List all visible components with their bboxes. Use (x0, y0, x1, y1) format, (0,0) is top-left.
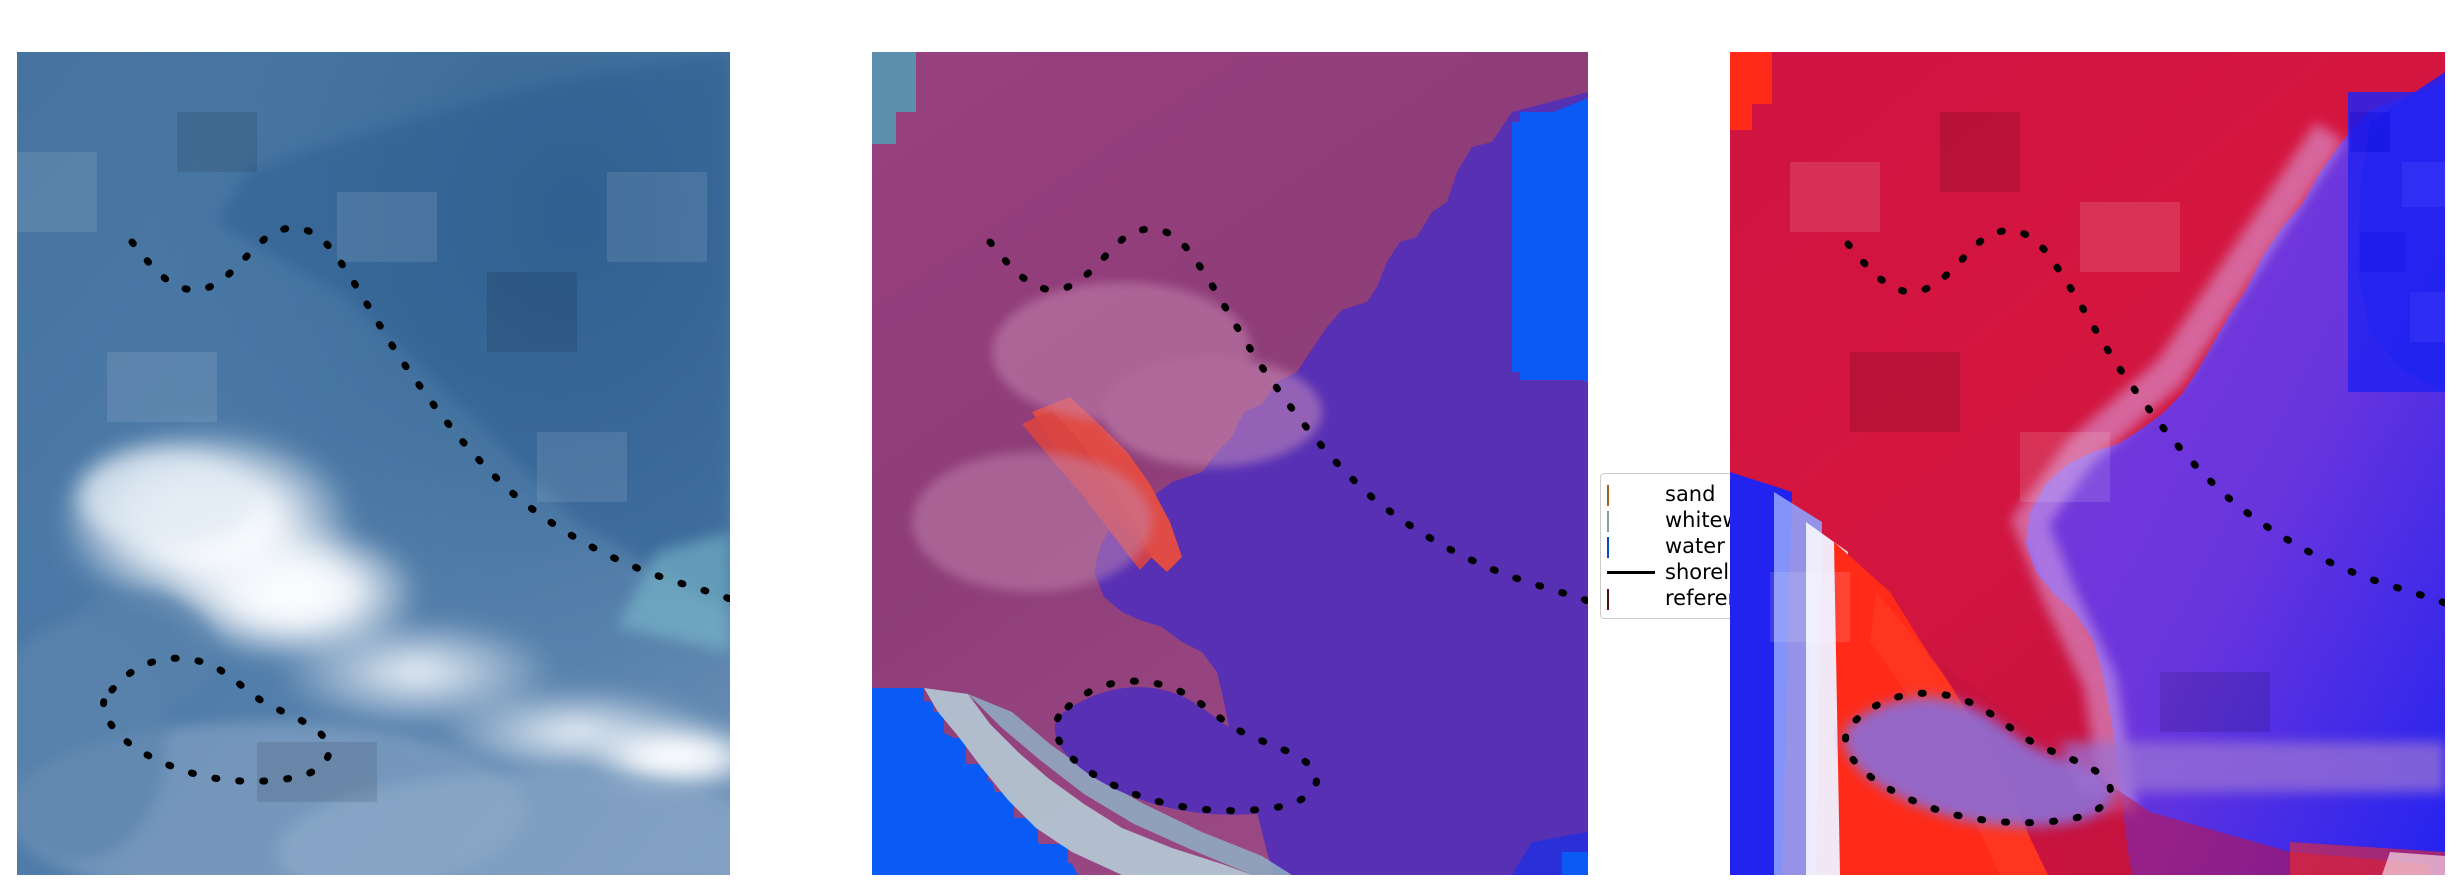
water-swatch-icon (1607, 538, 1655, 555)
panel-l5: L5 (1730, 52, 2445, 875)
panel-sar1852: sar1852 (17, 52, 730, 875)
legend-label-sand: sand (1665, 484, 1715, 505)
l5-false-colour-image (1730, 52, 2445, 875)
sand-swatch-icon (1607, 486, 1655, 503)
figure-root: sar1852 (0, 0, 2460, 893)
legend-label-water: water (1665, 536, 1725, 557)
panel-1999-09-05-09-42-46: 1999-09-05-09-42-46 (872, 52, 1588, 875)
reference-shoreline-swatch-icon (1607, 590, 1655, 607)
classified-scene-image (872, 52, 1588, 875)
shoreline-line-icon (1607, 564, 1655, 581)
sar1852-image (17, 52, 730, 875)
whitewater-swatch-icon (1607, 512, 1655, 529)
